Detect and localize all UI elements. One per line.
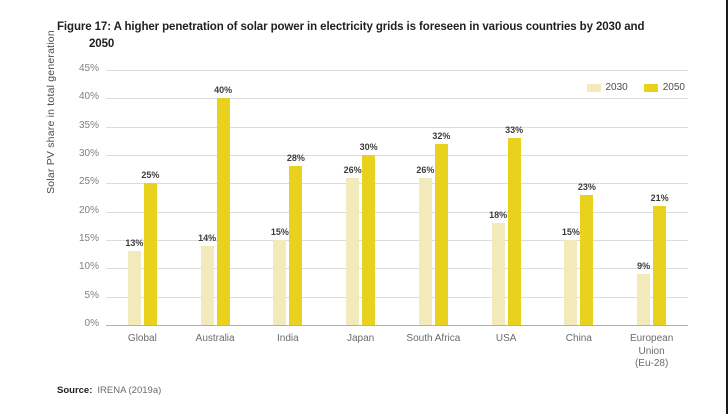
x-axis-category-label: Japan <box>324 333 397 371</box>
bar-pair: 26%30% <box>324 70 397 325</box>
bar-pair: 26%32% <box>397 70 470 325</box>
bar-value-label: 13% <box>125 238 143 248</box>
bar-value-label: 18% <box>489 210 507 220</box>
bar-group: 26%32% <box>397 70 470 325</box>
plot-area: 45%40%35%30%25%20%15%10%5%0% 13%25%14%40… <box>106 70 688 325</box>
page-title: Figure 17: A higher penetration of solar… <box>57 19 682 53</box>
bar-value-label: 15% <box>562 227 580 237</box>
y-axis-tick-label: 20% <box>79 205 99 216</box>
bar-2050[interactable]: 30% <box>362 155 375 325</box>
bar-value-label: 26% <box>344 165 362 175</box>
figure-page: Figure 17: A higher penetration of solar… <box>0 0 728 414</box>
y-axis-tick-label: 25% <box>79 176 99 187</box>
x-axis-category-line: USA <box>470 333 543 346</box>
bar-2050[interactable]: 40% <box>217 98 230 325</box>
x-axis-labels: GlobalAustraliaIndiaJapanSouth AfricaUSA… <box>106 333 688 371</box>
bar-2050[interactable]: 21% <box>653 206 666 325</box>
bar-2050[interactable]: 32% <box>435 144 448 325</box>
bar-2030[interactable]: 15% <box>273 240 286 325</box>
y-axis-title: Solar PV share in total generation <box>45 0 59 112</box>
bar-group: 13%25% <box>106 70 179 325</box>
figure-title-line2: 2050 <box>57 36 682 53</box>
y-axis-tick-label: 40% <box>79 91 99 102</box>
bar-group: 26%30% <box>324 70 397 325</box>
x-axis-category-line: China <box>543 333 616 346</box>
bar-value-label: 40% <box>214 85 232 95</box>
x-axis-category-label: Global <box>106 333 179 371</box>
x-axis-category-label: EuropeanUnion(Eu-28) <box>615 333 688 371</box>
x-axis-category-label: China <box>543 333 616 371</box>
source-note: Source:IRENA (2019a) <box>57 385 161 396</box>
bar-groups: 13%25%14%40%15%28%26%30%26%32%18%33%15%2… <box>106 70 688 325</box>
bar-2050[interactable]: 23% <box>580 195 593 325</box>
bar-value-label: 14% <box>198 233 216 243</box>
x-axis-category-line: Japan <box>324 333 397 346</box>
bar-value-label: 25% <box>141 170 159 180</box>
x-axis-category-label: USA <box>470 333 543 371</box>
bar-pair: 15%23% <box>543 70 616 325</box>
y-axis-title-text: Solar PV share in total generation <box>45 30 57 194</box>
bar-group: 9%21% <box>615 70 688 325</box>
bar-2030[interactable]: 14% <box>201 246 214 325</box>
y-axis-tick-label: 10% <box>79 261 99 272</box>
y-axis-tick-label: 30% <box>79 148 99 159</box>
x-axis-category-line: South Africa <box>397 333 470 346</box>
bar-value-label: 32% <box>432 131 450 141</box>
bar-2030[interactable]: 9% <box>637 274 650 325</box>
bar-2030[interactable]: 26% <box>346 178 359 325</box>
bar-chart: Solar PV share in total generation 20302… <box>57 62 697 372</box>
axis-baseline: 0% <box>106 325 688 326</box>
bar-2030[interactable]: 18% <box>492 223 505 325</box>
figure-title-line1: Figure 17: A higher penetration of solar… <box>57 21 644 33</box>
bar-group: 15%23% <box>543 70 616 325</box>
x-axis-category-line: Union <box>615 346 688 359</box>
y-axis-tick-label: 45% <box>79 63 99 74</box>
bar-value-label: 30% <box>360 142 378 152</box>
y-axis-tick-label: 0% <box>85 318 99 329</box>
bar-value-label: 26% <box>416 165 434 175</box>
x-axis-category-line: India <box>252 333 325 346</box>
bar-pair: 14%40% <box>179 70 252 325</box>
source-text: IRENA (2019a) <box>97 385 161 396</box>
x-axis-category-label: Australia <box>179 333 252 371</box>
x-axis-category-line: (Eu-28) <box>615 358 688 371</box>
x-axis-category-label: South Africa <box>397 333 470 371</box>
bar-2050[interactable]: 28% <box>289 166 302 325</box>
bar-2050[interactable]: 25% <box>144 183 157 325</box>
x-axis-category-line: Australia <box>179 333 252 346</box>
bar-group: 18%33% <box>470 70 543 325</box>
x-axis-category-line: Global <box>106 333 179 346</box>
source-label: Source: <box>57 385 92 396</box>
bar-pair: 15%28% <box>252 70 325 325</box>
bar-value-label: 23% <box>578 182 596 192</box>
y-axis-tick-label: 5% <box>85 290 99 301</box>
bar-group: 14%40% <box>179 70 252 325</box>
bar-2030[interactable]: 26% <box>419 178 432 325</box>
bar-2050[interactable]: 33% <box>508 138 521 325</box>
x-axis-category-line: European <box>615 333 688 346</box>
y-axis-tick-label: 35% <box>79 120 99 131</box>
bar-value-label: 28% <box>287 153 305 163</box>
y-axis-tick-label: 15% <box>79 233 99 244</box>
bar-2030[interactable]: 15% <box>564 240 577 325</box>
bar-group: 15%28% <box>252 70 325 325</box>
bar-value-label: 15% <box>271 227 289 237</box>
bar-pair: 13%25% <box>106 70 179 325</box>
bar-pair: 18%33% <box>470 70 543 325</box>
x-axis-category-label: India <box>252 333 325 371</box>
bar-2030[interactable]: 13% <box>128 251 141 325</box>
bar-value-label: 21% <box>651 193 669 203</box>
bar-pair: 9%21% <box>615 70 688 325</box>
bar-value-label: 9% <box>637 261 650 271</box>
bar-value-label: 33% <box>505 125 523 135</box>
